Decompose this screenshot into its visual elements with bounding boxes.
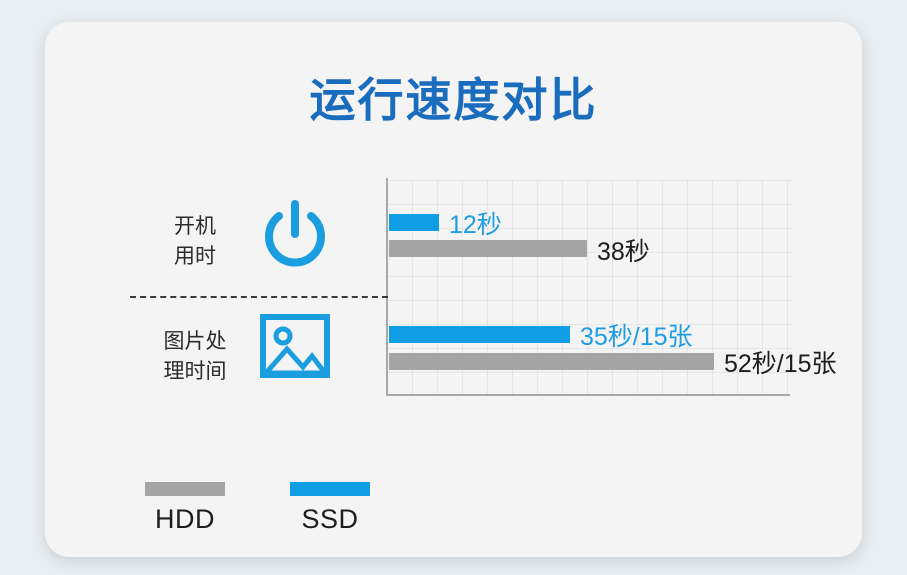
chart-x-axis — [386, 394, 790, 396]
row-label-boot-line2: 用时 — [140, 242, 250, 272]
row-label-photo-time: 图片处 理时间 — [140, 327, 250, 387]
legend-item-hdd: HDD — [125, 482, 245, 535]
bar-photo-hdd — [389, 353, 714, 370]
row-label-photo-line2: 理时间 — [140, 357, 250, 387]
chart-y-axis — [386, 178, 388, 396]
legend-label-ssd: SSD — [270, 504, 390, 535]
bar-boot-ssd — [389, 214, 439, 231]
power-icon — [255, 194, 335, 274]
row-label-photo-line1: 图片处 — [140, 327, 250, 357]
bar-value-boot-ssd: 12秒 — [449, 213, 502, 238]
legend-swatch-ssd — [290, 482, 370, 496]
row-label-boot-time: 开机 用时 — [140, 212, 250, 272]
image-icon — [255, 307, 335, 387]
bar-value-photo-hdd: 52秒/15张 — [724, 352, 837, 377]
row-label-boot-line1: 开机 — [140, 212, 250, 242]
comparison-card: 运行速度对比 开机 用时 12秒 38秒 图片处 理时间 35秒/15张 52秒… — [45, 22, 862, 557]
bar-photo-ssd — [389, 326, 570, 343]
bar-value-photo-ssd: 35秒/15张 — [580, 325, 693, 350]
legend-label-hdd: HDD — [125, 504, 245, 535]
bar-boot-hdd — [389, 240, 587, 257]
bar-value-boot-hdd: 38秒 — [597, 240, 650, 265]
page-title: 运行速度对比 — [45, 64, 862, 130]
legend-swatch-hdd — [145, 482, 225, 496]
row-divider — [130, 296, 388, 298]
legend-item-ssd: SSD — [270, 482, 390, 535]
